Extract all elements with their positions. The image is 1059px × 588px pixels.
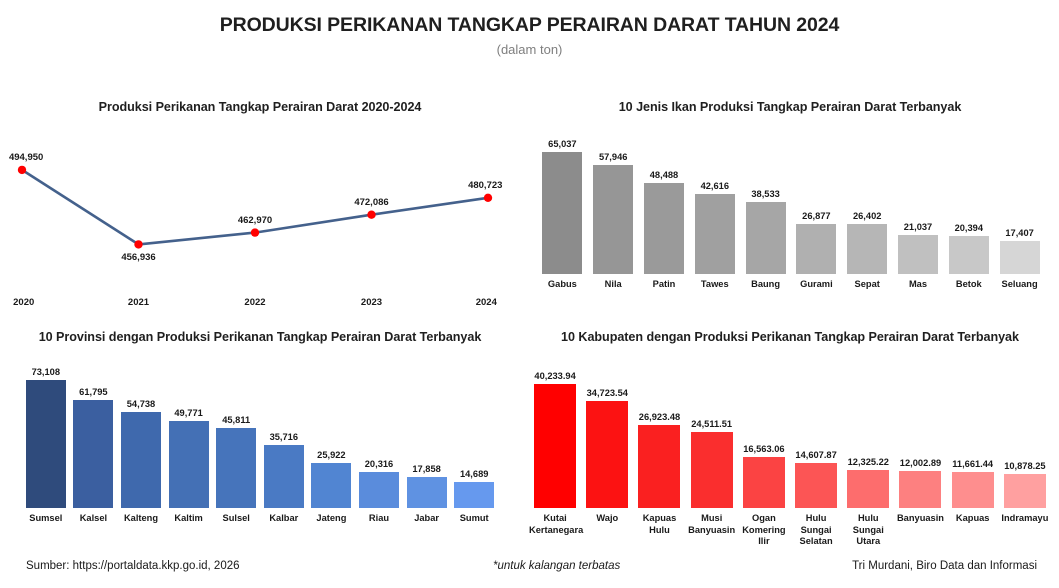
bar-value-label: 24,511.51: [691, 419, 732, 430]
bar-value-label: 12,002.89: [900, 458, 941, 469]
bar-x-axis-label: Jabar: [414, 513, 439, 525]
bar-value-label: 17,858: [412, 464, 440, 475]
bar-x-axis-label: Gurami: [800, 279, 833, 291]
bar-rect[interactable]: [638, 425, 680, 508]
bar-rect[interactable]: [359, 472, 399, 508]
bar-value-label: 26,923.48: [639, 412, 680, 423]
line-x-axis-label: 2022: [244, 297, 265, 308]
bar-rect[interactable]: [216, 428, 256, 508]
chart-panel-kabupaten: 10 Kabupaten dengan Produksi Perikanan T…: [521, 318, 1059, 536]
line-data-point[interactable]: [367, 211, 375, 219]
bar-x-axis-label: Sulsel: [222, 513, 249, 525]
bar-value-label: 20,394: [955, 223, 983, 234]
bar-column: 21,037Mas: [893, 120, 944, 310]
bar-column: 54,738Kalteng: [117, 348, 165, 536]
footer-author-text: Tri Murdani, Biro Data dan Informasi: [852, 560, 1037, 572]
chart-title-line-produksi: Produksi Perikanan Tangkap Perairan Dara…: [0, 100, 520, 114]
bar-x-axis-label: Kalbar: [269, 513, 298, 525]
bar-x-axis-label: Betok: [956, 279, 982, 291]
bar-value-label: 14,607.87: [795, 450, 836, 461]
bar-value-label: 49,771: [174, 408, 202, 419]
bar-x-axis-label: Wajo: [581, 513, 633, 525]
bar-rect[interactable]: [691, 432, 733, 508]
bar-rect[interactable]: [952, 472, 994, 508]
bar-rect[interactable]: [1000, 241, 1040, 274]
bar-column: 12,002.89Banyuasin: [894, 348, 946, 536]
bar-x-axis-label: Kapuas: [947, 513, 999, 525]
line-x-axis-label: 2024: [476, 297, 497, 308]
line-data-point[interactable]: [18, 166, 26, 174]
bar-column: 24,511.51Musi Banyuasin: [686, 348, 738, 536]
bar-column: 26,402Sepat: [842, 120, 893, 310]
bar-rect[interactable]: [542, 152, 582, 274]
bar-column: 35,716Kalbar: [260, 348, 308, 536]
bar-rect[interactable]: [899, 471, 941, 508]
bar-x-axis-label: Tawes: [701, 279, 729, 291]
line-data-point[interactable]: [484, 194, 492, 202]
bar-column: 57,946Nila: [588, 120, 639, 310]
bar-rect[interactable]: [73, 400, 113, 508]
chart-panel-line-produksi: Produksi Perikanan Tangkap Perairan Dara…: [0, 88, 520, 310]
bar-column: 25,922Jateng: [308, 348, 356, 536]
line-x-axis-label: 2020: [13, 297, 34, 308]
infographic-header: PRODUKSI PERIKANAN TANGKAP PERAIRAN DARA…: [0, 0, 1059, 57]
bar-value-label: 14,689: [460, 469, 488, 480]
bar-x-axis-label: Kalsel: [80, 513, 107, 525]
bar-value-label: 65,037: [548, 139, 576, 150]
bar-rect[interactable]: [534, 384, 576, 508]
bar-x-axis-label: Sumsel: [29, 513, 62, 525]
bar-column: 49,771Kaltim: [165, 348, 213, 536]
bar-x-axis-label: Banyuasin: [894, 513, 946, 525]
bar-value-label: 34,723.54: [587, 388, 628, 399]
bar-value-label: 61,795: [79, 387, 107, 398]
bar-value-label: 26,877: [802, 211, 830, 222]
bar-value-label: 40,233.94: [534, 371, 575, 382]
bar-column: 14,607.87Hulu Sungai Selatan: [790, 348, 842, 536]
bar-column: 17,858Jabar: [403, 348, 451, 536]
bar-chart-plot-area-provinsi: 73,108Sumsel61,795Kalsel54,738Kalteng49,…: [0, 348, 520, 536]
bar-column: 61,795Kalsel: [70, 348, 118, 536]
chart-title-provinsi: 10 Provinsi dengan Produksi Perikanan Ta…: [0, 330, 520, 344]
bar-column: 73,108Sumsel: [22, 348, 70, 536]
bar-x-axis-label: Sumut: [460, 513, 489, 525]
infographic-footer: Sumber: https://portaldata.kkp.go.id, 20…: [0, 560, 1059, 588]
bar-column: 20,394Betok: [943, 120, 994, 310]
line-value-label: 456,936: [121, 252, 155, 263]
bar-value-label: 45,811: [222, 415, 250, 426]
line-value-label: 480,723: [468, 180, 502, 191]
bar-value-label: 17,407: [1005, 228, 1033, 239]
bar-x-axis-label: Baung: [751, 279, 780, 291]
bar-rect[interactable]: [898, 235, 938, 274]
bar-x-axis-label: Musi Banyuasin: [686, 513, 738, 536]
bar-value-label: 21,037: [904, 222, 932, 233]
bar-rect[interactable]: [847, 470, 889, 508]
bar-rect[interactable]: [644, 183, 684, 274]
bar-column: 20,316Riau: [355, 348, 403, 536]
page-title: PRODUKSI PERIKANAN TANGKAP PERAIRAN DARA…: [0, 0, 1059, 37]
bar-rect[interactable]: [743, 457, 785, 508]
bar-rect[interactable]: [795, 463, 837, 508]
bar-rect[interactable]: [169, 421, 209, 508]
bar-x-axis-label: Hulu Sungai Selatan: [790, 513, 842, 548]
bar-column: 16,563.06Ogan Komering Ilir: [738, 348, 790, 536]
bar-value-label: 42,616: [701, 181, 729, 192]
bar-column: 65,037Gabus: [537, 120, 588, 310]
bar-x-axis-label: Seluang: [1001, 279, 1037, 291]
bar-rect[interactable]: [796, 224, 836, 274]
footer-restriction-note: *untuk kalangan terbatas: [493, 560, 620, 572]
bar-rect[interactable]: [26, 380, 66, 508]
bar-column: 14,689Sumut: [450, 348, 498, 536]
bar-column: 38,533Baung: [740, 120, 791, 310]
bar-rect[interactable]: [1004, 474, 1046, 508]
bar-column: 34,723.54Wajo: [581, 348, 633, 536]
footer-source-text: Sumber: https://portaldata.kkp.go.id, 20…: [26, 560, 240, 572]
bar-rect[interactable]: [311, 463, 351, 508]
bar-x-axis-label: Indramayu: [999, 513, 1051, 525]
bar-rect[interactable]: [746, 202, 786, 274]
bar-rect[interactable]: [454, 482, 494, 508]
bar-column: 12,325.22Hulu Sungai Utara: [842, 348, 894, 536]
bar-x-axis-label: Patin: [653, 279, 676, 291]
bar-x-axis-label: Nila: [605, 279, 622, 291]
chart-panel-provinsi: 10 Provinsi dengan Produksi Perikanan Ta…: [0, 318, 520, 536]
bar-rect[interactable]: [949, 236, 989, 274]
line-value-label: 472,086: [354, 197, 388, 208]
bar-column: 40,233.94Kutai Kertanegara: [529, 348, 581, 536]
bar-x-axis-label: Ogan Komering Ilir: [738, 513, 790, 548]
bar-value-label: 73,108: [32, 367, 60, 378]
bar-x-axis-label: Kaltim: [174, 513, 202, 525]
bar-value-label: 48,488: [650, 170, 678, 181]
bar-column: 42,616Tawes: [689, 120, 740, 310]
bar-column: 10,878.25Indramayu: [999, 348, 1051, 536]
bar-value-label: 20,316: [365, 459, 393, 470]
line-value-label: 462,970: [238, 215, 272, 226]
chart-title-kabupaten: 10 Kabupaten dengan Produksi Perikanan T…: [521, 330, 1059, 344]
bar-x-axis-label: Kutai Kertanegara: [529, 513, 581, 536]
bar-value-label: 12,325.22: [848, 457, 889, 468]
bar-column: 17,407Seluang: [994, 120, 1045, 310]
chart-panel-jenis-ikan: 10 Jenis Ikan Produksi Tangkap Perairan …: [521, 88, 1059, 310]
bar-chart-plot-area-kabupaten: 40,233.94Kutai Kertanegara34,723.54Wajo2…: [521, 348, 1059, 536]
bar-rect[interactable]: [586, 401, 628, 508]
bar-column: 26,923.48Kapuas Hulu: [633, 348, 685, 536]
bar-value-label: 11,661.44: [952, 459, 993, 470]
bar-x-axis-label: Kapuas Hulu: [633, 513, 685, 536]
bar-column: 11,661.44Kapuas: [947, 348, 999, 536]
bar-column: 48,488Patin: [639, 120, 690, 310]
bar-value-label: 16,563.06: [743, 444, 784, 455]
bar-rect[interactable]: [847, 224, 887, 274]
bar-rect[interactable]: [593, 165, 633, 274]
bar-value-label: 10,878.25: [1004, 461, 1045, 472]
bar-x-axis-label: Jateng: [316, 513, 346, 525]
bar-column: 26,877Gurami: [791, 120, 842, 310]
line-x-axis-label: 2021: [128, 297, 149, 308]
bar-chart-plot-area-jenis-ikan: 65,037Gabus57,946Nila48,488Patin42,616Ta…: [521, 120, 1059, 310]
line-value-label: 494,950: [9, 152, 43, 163]
bar-value-label: 38,533: [751, 189, 779, 200]
bar-x-axis-label: Sepat: [855, 279, 880, 291]
bar-x-axis-label: Hulu Sungai Utara: [842, 513, 894, 548]
line-x-axis-label: 2023: [361, 297, 382, 308]
bar-rect[interactable]: [407, 477, 447, 508]
bar-x-axis-label: Kalteng: [124, 513, 158, 525]
page-subtitle: (dalam ton): [0, 37, 1059, 57]
bar-rect[interactable]: [695, 194, 735, 274]
bar-value-label: 25,922: [317, 450, 345, 461]
bar-rect[interactable]: [264, 445, 304, 508]
bar-value-label: 57,946: [599, 152, 627, 163]
bar-column: 45,811Sulsel: [212, 348, 260, 536]
bar-value-label: 26,402: [853, 211, 881, 222]
line-data-point[interactable]: [251, 228, 259, 236]
bar-x-axis-label: Gabus: [548, 279, 577, 291]
bar-rect[interactable]: [121, 412, 161, 508]
line-data-point[interactable]: [134, 240, 142, 248]
line-chart-plot-area: 494,9502020456,9362021462,9702022472,086…: [0, 124, 520, 310]
chart-title-jenis-ikan: 10 Jenis Ikan Produksi Tangkap Perairan …: [521, 100, 1059, 114]
bar-value-label: 35,716: [270, 432, 298, 443]
bar-x-axis-label: Riau: [369, 513, 389, 525]
bar-value-label: 54,738: [127, 399, 155, 410]
bar-x-axis-label: Mas: [909, 279, 927, 291]
